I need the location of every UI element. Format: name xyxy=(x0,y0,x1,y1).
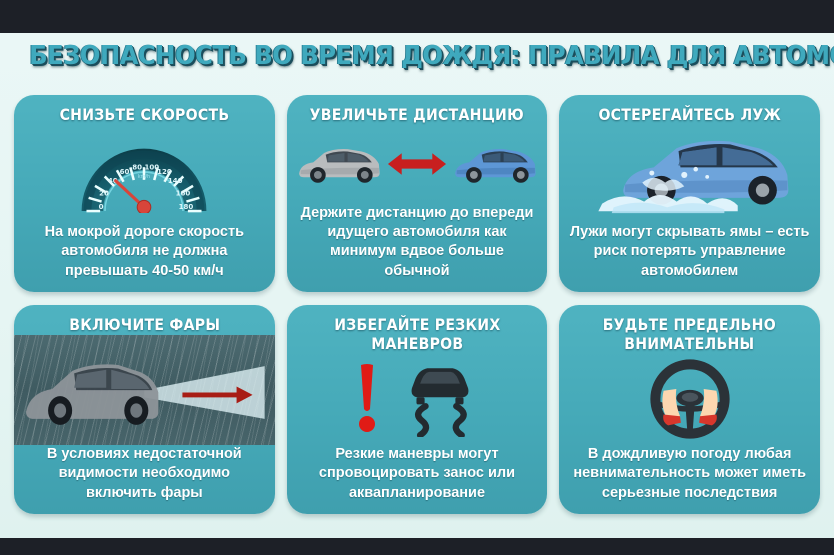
skidding-car-icon xyxy=(398,361,482,437)
tips-grid: СНИЗЬТЕ СКОРОСТЬ xyxy=(14,95,820,525)
card-body-text: На мокрой дороге скорость автомобиля не … xyxy=(14,223,275,292)
card-body-text: Резкие маневры могут спровоцировать зано… xyxy=(287,445,548,514)
steering-wheel-hands-icon xyxy=(638,358,742,440)
card-body-text: В условиях недостаточной видимости необх… xyxy=(14,445,275,514)
distance-arrow-icon xyxy=(386,151,448,177)
card-heading: СНИЗЬТЕ СКОРОСТЬ xyxy=(52,106,236,125)
card-body-text: В дождливую погоду любая невнимательност… xyxy=(559,445,820,514)
card-heading: ВКЛЮЧИТЕ ФАРЫ xyxy=(62,316,227,335)
tip-card-beware-puddles[interactable]: ОСТЕРЕГАЙТЕСЬ ЛУЖ xyxy=(559,95,820,292)
tip-card-avoid-sharp-maneuvers[interactable]: ИЗБЕГАЙТЕ РЕЗКИХ МАНЕВРОВ xyxy=(287,305,548,514)
page-title: БЕЗОПАСНОСТЬ ВО ВРЕМЯ ДОЖДЯ: ПРАВИЛА ДЛЯ… xyxy=(29,41,805,71)
tip-card-be-attentive[interactable]: БУДЬТЕ ПРЕДЕЛЬНО ВНИМАТЕЛЬНЫ В дожд xyxy=(559,305,820,514)
card-heading: БУДЬТЕ ПРЕДЕЛЬНО ВНИМАТЕЛЬНЫ xyxy=(575,316,804,354)
tip-card-turn-on-headlights[interactable]: ВКЛЮЧИТЕ ФАРЫ xyxy=(14,305,275,514)
card-illustration xyxy=(559,125,820,223)
infographic-stage: БЕЗОПАСНОСТЬ ВО ВРЕМЯ ДОЖДЯ: ПРАВИЛА ДЛЯ… xyxy=(0,33,834,538)
tip-card-reduce-speed[interactable]: СНИЗЬТЕ СКОРОСТЬ xyxy=(14,95,275,292)
car-grey-icon xyxy=(296,142,382,186)
card-illustration xyxy=(287,125,548,204)
rain-photo-band xyxy=(14,335,275,445)
svg-text:140: 140 xyxy=(168,176,183,185)
svg-text:20: 20 xyxy=(99,188,109,197)
letterbox-top xyxy=(0,0,834,33)
svg-text:120: 120 xyxy=(157,167,172,176)
card-heading: ИЗБЕГАЙТЕ РЕЗКИХ МАНЕВРОВ xyxy=(302,316,531,354)
svg-text:0: 0 xyxy=(99,202,104,211)
car-blue-icon xyxy=(452,142,538,186)
tip-card-keep-distance[interactable]: УВЕЛИЧЬТЕ ДИСТАНЦИЮ xyxy=(287,95,548,292)
card-illustration xyxy=(14,335,275,445)
card-heading: УВЕЛИЧЬТЕ ДИСТАНЦИЮ xyxy=(303,106,531,125)
letterbox-bottom xyxy=(0,538,834,555)
card-heading: ОСТЕРЕГАЙТЕСЬ ЛУЖ xyxy=(591,106,788,125)
infographic-frame: БЕЗОПАСНОСТЬ ВО ВРЕМЯ ДОЖДЯ: ПРАВИЛА ДЛЯ… xyxy=(0,0,834,555)
card-illustration: 0 20 40 60 80 100 120 140 160 180 200 xyxy=(14,125,275,223)
speedometer-icon: 0 20 40 60 80 100 120 140 160 180 200 xyxy=(75,135,213,213)
card-body-text: Держите дистанцию до впереди идущего авт… xyxy=(287,204,548,292)
card-illustration xyxy=(287,354,548,445)
svg-text:60: 60 xyxy=(120,167,130,176)
svg-text:160: 160 xyxy=(176,188,191,197)
car-headlights-rain-icon xyxy=(14,335,275,445)
exclamation-mark-icon xyxy=(352,363,382,435)
svg-text:80: 80 xyxy=(133,163,143,172)
card-body-text: Лужи могут скрывать ямы – есть риск поте… xyxy=(559,223,820,292)
card-illustration xyxy=(559,354,820,445)
car-splashing-puddle-icon xyxy=(585,131,795,217)
gauge-unit-label: km/h xyxy=(138,174,150,180)
